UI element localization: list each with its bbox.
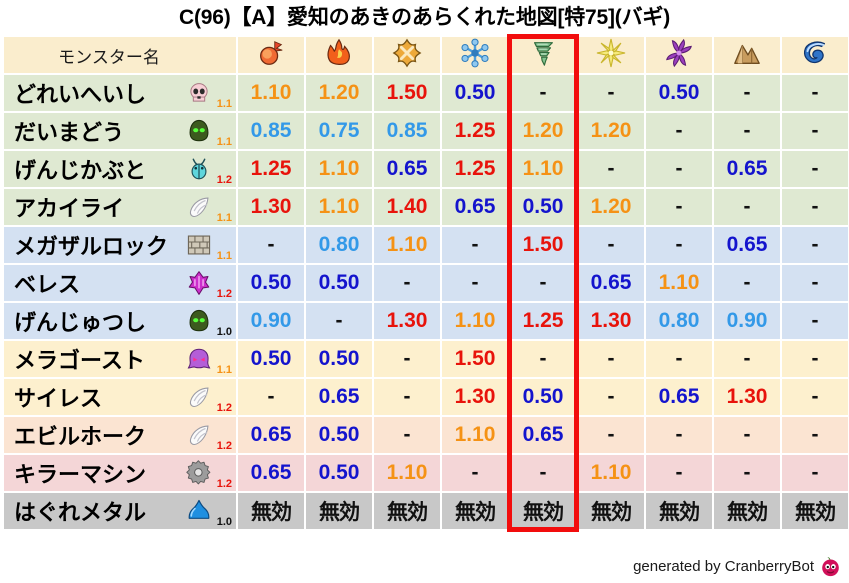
resistance-value: 無効 — [455, 501, 495, 524]
resistance-value: 0.50 — [319, 423, 360, 446]
resistance-value-cell: - — [646, 455, 712, 491]
resistance-value: - — [540, 461, 547, 484]
table-row: どれいへいし1.11.101.201.500.50--0.50-- — [4, 75, 848, 111]
resistance-value: - — [404, 385, 411, 408]
monster-name-cell[interactable]: メガザルロック1.1 — [4, 227, 236, 263]
resistance-value-cell: 1.50 — [374, 75, 440, 111]
resistance-value: - — [744, 347, 751, 370]
resistance-value-cell: - — [782, 189, 848, 225]
table-row: サイレス1.2-0.65-1.300.50-0.651.30- — [4, 379, 848, 415]
resistance-value-cell: - — [782, 227, 848, 263]
white-wing-icon — [186, 422, 212, 448]
resistance-value: 0.50 — [659, 81, 700, 104]
resistance-value-cell: 0.85 — [374, 113, 440, 149]
resistance-value: - — [812, 157, 819, 180]
table-row: だいまどう1.10.850.750.851.251.201.20--- — [4, 113, 848, 149]
resistance-value: 0.50 — [523, 195, 564, 218]
resistance-value-cell: - — [782, 417, 848, 453]
table-row: アカイライ1.11.301.101.400.650.501.20--- — [4, 189, 848, 225]
resistance-value-cell: 0.65 — [510, 417, 576, 453]
monster-version-label: 1.2 — [217, 441, 232, 452]
monster-name-cell[interactable]: ベレス1.2 — [4, 265, 236, 301]
resistance-value-cell: - — [578, 151, 644, 187]
resistance-value-cell: 無効 — [238, 493, 304, 529]
element-column-header-light-star[interactable] — [578, 37, 644, 73]
monster-version-label: 1.1 — [217, 365, 232, 376]
resistance-value-cell: 1.25 — [442, 151, 508, 187]
resistance-value: 0.50 — [319, 347, 360, 370]
monster-name-cell[interactable]: はぐれメタル1.0 — [4, 493, 236, 529]
resistance-value-cell: 1.30 — [442, 379, 508, 415]
resistance-value-cell: 1.20 — [578, 113, 644, 149]
monster-version-label: 1.2 — [217, 403, 232, 414]
resistance-value: 無効 — [251, 501, 291, 524]
resistance-value-cell: - — [782, 113, 848, 149]
resistance-value: - — [812, 309, 819, 332]
resistance-value: 1.10 — [387, 233, 428, 256]
resistance-value: 無効 — [387, 501, 427, 524]
resistance-value-cell: 1.40 — [374, 189, 440, 225]
gear-icon — [186, 460, 212, 486]
monster-name-cell[interactable]: メラゴースト1.1 — [4, 341, 236, 377]
resistance-value-cell: - — [578, 417, 644, 453]
resistance-value-cell: - — [578, 341, 644, 377]
resistance-value-cell: 0.65 — [238, 455, 304, 491]
resistance-value-cell: 1.30 — [238, 189, 304, 225]
resistance-value: - — [608, 233, 615, 256]
resistance-value: 1.25 — [455, 119, 496, 142]
resistance-value: - — [812, 233, 819, 256]
resistance-value: - — [812, 81, 819, 104]
resistance-value-cell: 0.65 — [442, 189, 508, 225]
resistance-value-cell: 0.65 — [306, 379, 372, 415]
table-row: げんじかぶと1.21.251.100.651.251.10--0.65- — [4, 151, 848, 187]
resistance-value: 1.10 — [319, 157, 360, 180]
resistance-value-cell: - — [714, 113, 780, 149]
monster-name-label: げんじゅつし — [14, 305, 146, 337]
resistance-value-cell: 1.10 — [442, 303, 508, 339]
monster-name-label: キラーマシン — [14, 457, 146, 489]
resistance-value-cell: 1.10 — [646, 265, 712, 301]
monster-name-label: メラゴースト — [14, 343, 145, 375]
resistance-value-cell: - — [510, 75, 576, 111]
element-column-header-tornado[interactable] — [510, 37, 576, 73]
resistance-value: 0.80 — [659, 309, 700, 332]
resistance-value: 無効 — [727, 501, 767, 524]
resistance-value: 0.50 — [319, 461, 360, 484]
resistance-value: - — [812, 347, 819, 370]
resistance-value-cell: 0.50 — [442, 75, 508, 111]
resistance-value-cell: - — [442, 265, 508, 301]
resistance-value: 無効 — [591, 501, 631, 524]
resistance-value-cell: 0.50 — [646, 75, 712, 111]
resistance-value: 1.30 — [387, 309, 428, 332]
resistance-value-cell: 1.10 — [374, 455, 440, 491]
resistance-value-cell: 0.90 — [714, 303, 780, 339]
resistance-value: 0.65 — [455, 195, 496, 218]
resistance-value-cell: 0.80 — [306, 227, 372, 263]
resistance-value: 無効 — [319, 501, 359, 524]
resistance-value: 1.30 — [591, 309, 632, 332]
resistance-value: 0.85 — [387, 119, 428, 142]
resistance-value: - — [676, 119, 683, 142]
fireball-icon — [256, 38, 286, 68]
resistance-value: - — [744, 119, 751, 142]
resistance-value-cell: 0.50 — [238, 341, 304, 377]
resistance-value: - — [812, 461, 819, 484]
element-column-header-explosion[interactable] — [374, 37, 440, 73]
resistance-value-cell: - — [782, 341, 848, 377]
resistance-value-cell: - — [714, 455, 780, 491]
tornado-icon — [528, 38, 558, 68]
resistance-value-cell: - — [782, 455, 848, 491]
resistance-value-cell: - — [578, 227, 644, 263]
resistance-value: - — [676, 157, 683, 180]
monster-name-label: げんじかぶと — [14, 153, 146, 185]
resistance-value: 1.25 — [455, 157, 496, 180]
explosion-icon — [392, 38, 422, 68]
resistance-value: 0.65 — [727, 157, 768, 180]
resistance-value-cell: - — [782, 265, 848, 301]
resistance-value-cell: - — [714, 189, 780, 225]
table-row: ベレス1.20.500.50---0.651.10-- — [4, 265, 848, 301]
resistance-value: 1.30 — [727, 385, 768, 408]
resistance-value: 0.50 — [523, 385, 564, 408]
resistance-value: - — [744, 195, 751, 218]
monster-name-cell[interactable]: げんじかぶと1.2 — [4, 151, 236, 187]
resistance-value: 0.65 — [251, 423, 292, 446]
snowflake-icon — [460, 38, 490, 68]
purple-ghost-icon — [186, 346, 212, 372]
resistance-value: 0.90 — [727, 309, 768, 332]
resistance-value-cell: - — [374, 379, 440, 415]
resistance-value-cell: - — [646, 113, 712, 149]
monster-name-label: サイレス — [14, 381, 102, 413]
table-row: げんじゅつし1.00.90-1.301.101.251.300.800.90- — [4, 303, 848, 339]
resistance-value: 1.10 — [251, 81, 292, 104]
resistance-value: 1.20 — [591, 119, 632, 142]
resistance-value: 0.65 — [727, 233, 768, 256]
resistance-value: 1.50 — [455, 347, 496, 370]
monster-name-cell[interactable]: げんじゅつし1.0 — [4, 303, 236, 339]
resistance-value-cell: 1.50 — [510, 227, 576, 263]
monster-name-label: だいまどう — [14, 115, 124, 147]
resistance-value-cell: - — [646, 189, 712, 225]
resistance-value: 0.75 — [319, 119, 360, 142]
resistance-value-cell: 0.50 — [306, 455, 372, 491]
resistance-value-cell: 無効 — [374, 493, 440, 529]
resistance-value: 1.50 — [523, 233, 564, 256]
resistance-value: - — [540, 271, 547, 294]
resistance-value-cell: - — [374, 417, 440, 453]
resistance-value-cell: 0.90 — [238, 303, 304, 339]
resistance-value: 1.10 — [455, 423, 496, 446]
resistance-value: - — [608, 81, 615, 104]
resistance-value-cell: 1.10 — [442, 417, 508, 453]
blue-slime-icon — [186, 498, 212, 524]
resistance-value: - — [812, 385, 819, 408]
element-column-header-flame[interactable] — [306, 37, 372, 73]
wave-icon — [800, 38, 830, 68]
resistance-value-cell: 1.10 — [578, 455, 644, 491]
element-column-header-mountain[interactable] — [714, 37, 780, 73]
resistance-value-cell: 0.65 — [578, 265, 644, 301]
resistance-value: 0.65 — [591, 271, 632, 294]
monster-name-label: エビルホーク — [14, 419, 146, 451]
resistance-value-cell: - — [782, 151, 848, 187]
resistance-value-cell: 1.10 — [238, 75, 304, 111]
resistance-value: 1.10 — [591, 461, 632, 484]
monster-version-label: 1.2 — [217, 289, 232, 300]
resistance-value: - — [676, 195, 683, 218]
monster-name-label: ベレス — [14, 267, 80, 299]
resistance-value: 0.50 — [319, 271, 360, 294]
resistance-value-cell: 0.65 — [374, 151, 440, 187]
resistance-value: 0.65 — [319, 385, 360, 408]
resistance-value: 1.10 — [387, 461, 428, 484]
resistance-value: - — [744, 271, 751, 294]
purple-crest-icon — [186, 270, 212, 296]
resistance-value-cell: 0.50 — [510, 379, 576, 415]
skull-icon — [186, 80, 212, 106]
resistance-value: 無効 — [659, 501, 699, 524]
resistance-value-cell: 無効 — [306, 493, 372, 529]
resistance-value-cell: - — [578, 379, 644, 415]
resistance-value-cell: - — [646, 341, 712, 377]
table-header-row: モンスター名 — [4, 37, 848, 73]
table-row: はぐれメタル1.0無効無効無効無効無効無効無効無効無効 — [4, 493, 848, 529]
monster-name-cell[interactable]: どれいへいし1.1 — [4, 75, 236, 111]
resistance-value: 無効 — [795, 501, 835, 524]
resistance-value: 1.40 — [387, 195, 428, 218]
monster-name-cell[interactable]: だいまどう1.1 — [4, 113, 236, 149]
resistance-value: 1.20 — [591, 195, 632, 218]
resistance-value: - — [812, 195, 819, 218]
resistance-value-cell: 1.30 — [374, 303, 440, 339]
resistance-value: 1.20 — [319, 81, 360, 104]
resistance-value-cell: 0.50 — [306, 417, 372, 453]
resistance-value-cell: - — [714, 265, 780, 301]
resistance-value: 1.10 — [319, 195, 360, 218]
green-mage-icon — [186, 118, 212, 144]
resistance-value: - — [336, 309, 343, 332]
resistance-value-cell: 0.50 — [306, 341, 372, 377]
resistance-value-cell: 無効 — [782, 493, 848, 529]
resistance-value: 0.65 — [387, 157, 428, 180]
resistance-value-cell: - — [782, 75, 848, 111]
monster-name-label: どれいへいし — [14, 77, 146, 109]
resistance-value: - — [676, 233, 683, 256]
resistance-value-cell: 1.50 — [442, 341, 508, 377]
resistance-value-cell: - — [374, 265, 440, 301]
table-row: キラーマシン1.20.650.501.10--1.10--- — [4, 455, 848, 491]
resistance-value-cell: 無効 — [578, 493, 644, 529]
resistance-value-cell: 1.20 — [510, 113, 576, 149]
resistance-value: 0.90 — [251, 309, 292, 332]
monster-name-header: モンスター名 — [4, 37, 236, 73]
resistance-value-cell: 1.20 — [306, 75, 372, 111]
resistance-value: - — [268, 385, 275, 408]
monster-version-label: 1.0 — [217, 327, 232, 338]
resistance-value-cell: 0.85 — [238, 113, 304, 149]
resistance-value-cell: 0.65 — [238, 417, 304, 453]
resistance-value: - — [540, 347, 547, 370]
resistance-value: - — [812, 119, 819, 142]
resistance-value: 0.85 — [251, 119, 292, 142]
monster-version-label: 1.1 — [217, 251, 232, 262]
resistance-value-cell: - — [714, 75, 780, 111]
dark-swirl-icon — [664, 38, 694, 68]
resistance-value-cell: 1.25 — [510, 303, 576, 339]
resistance-value-cell: - — [578, 75, 644, 111]
resistance-value: 1.30 — [455, 385, 496, 408]
resistance-value: 0.65 — [659, 385, 700, 408]
resistance-value-cell: - — [442, 227, 508, 263]
monster-name-label: メガザルロック — [14, 229, 168, 261]
monster-name-cell[interactable]: アカイライ1.1 — [4, 189, 236, 225]
resistance-value-cell: 1.20 — [578, 189, 644, 225]
resistance-value-cell: - — [714, 417, 780, 453]
resistance-value-cell: 1.30 — [578, 303, 644, 339]
resistance-value: 無効 — [523, 501, 563, 524]
resistance-value: - — [676, 461, 683, 484]
resistance-value-cell: 1.10 — [374, 227, 440, 263]
element-column-header-wave[interactable] — [782, 37, 848, 73]
resistance-value: - — [404, 423, 411, 446]
resistance-value-cell: - — [510, 455, 576, 491]
resistance-value-cell: 0.75 — [306, 113, 372, 149]
resistance-table: モンスター名 どれいへいし1.11.101.201.500.50--0.50--… — [2, 35, 849, 531]
resistance-value: 1.25 — [251, 157, 292, 180]
monster-version-label: 1.1 — [217, 99, 232, 110]
resistance-value: - — [472, 271, 479, 294]
cranberry-bot-face-icon — [820, 556, 841, 577]
resistance-value: 1.20 — [523, 119, 564, 142]
resistance-value-cell: 0.65 — [714, 227, 780, 263]
resistance-value: 1.30 — [251, 195, 292, 218]
resistance-value-cell: 1.30 — [714, 379, 780, 415]
resistance-value-cell: - — [306, 303, 372, 339]
resistance-value-cell: 1.10 — [306, 151, 372, 187]
light-star-icon — [596, 38, 626, 68]
resistance-value: 0.50 — [251, 271, 292, 294]
resistance-value-cell: 1.25 — [238, 151, 304, 187]
resistance-value-cell: 0.50 — [238, 265, 304, 301]
resistance-value: - — [608, 157, 615, 180]
monster-name-cell[interactable]: キラーマシン1.2 — [4, 455, 236, 491]
resistance-value: - — [540, 81, 547, 104]
green-mage-icon — [186, 308, 212, 334]
resistance-value-cell: 1.10 — [510, 151, 576, 187]
resistance-value-cell: - — [646, 227, 712, 263]
monster-version-label: 1.2 — [217, 175, 232, 186]
monster-name-label: アカイライ — [14, 191, 124, 223]
monster-version-label: 1.1 — [217, 213, 232, 224]
resistance-value: 1.10 — [659, 271, 700, 294]
beetle-icon — [186, 156, 212, 182]
resistance-value-cell: - — [238, 379, 304, 415]
resistance-value-cell: 0.50 — [510, 189, 576, 225]
page-title: C(96)【A】愛知のあきのあらくれた地図[特75](バギ) — [0, 0, 849, 35]
resistance-value-cell: - — [442, 455, 508, 491]
monster-name-cell[interactable]: サイレス1.2 — [4, 379, 236, 415]
resistance-value: - — [472, 233, 479, 256]
resistance-value: 0.50 — [455, 81, 496, 104]
mountain-icon — [732, 38, 762, 68]
brick-icon — [186, 232, 212, 258]
resistance-value: 1.50 — [387, 81, 428, 104]
resistance-value-cell: 無効 — [646, 493, 712, 529]
resistance-value: 0.50 — [251, 347, 292, 370]
resistance-value-cell: - — [374, 341, 440, 377]
white-wing-icon — [186, 194, 212, 220]
element-column-header-snowflake[interactable] — [442, 37, 508, 73]
resistance-value: - — [744, 423, 751, 446]
resistance-value: - — [812, 423, 819, 446]
footer-credit: generated by CranberryBot — [633, 556, 841, 577]
monster-version-label: 1.0 — [217, 517, 232, 528]
resistance-value-cell: 0.65 — [714, 151, 780, 187]
monster-version-label: 1.1 — [217, 137, 232, 148]
resistance-value: 0.80 — [319, 233, 360, 256]
resistance-value: 1.10 — [523, 157, 564, 180]
resistance-value-cell: - — [714, 341, 780, 377]
resistance-value-cell: - — [238, 227, 304, 263]
resistance-value-cell: - — [782, 303, 848, 339]
flame-icon — [324, 38, 354, 68]
resistance-value: - — [676, 347, 683, 370]
resistance-value: 0.65 — [251, 461, 292, 484]
monster-name-label: はぐれメタル — [14, 495, 146, 527]
resistance-value: - — [744, 81, 751, 104]
monster-version-label: 1.2 — [217, 479, 232, 490]
resistance-value: - — [744, 461, 751, 484]
resistance-value: 1.10 — [455, 309, 496, 332]
resistance-value: - — [268, 233, 275, 256]
table-row: エビルホーク1.20.650.50-1.100.65---- — [4, 417, 848, 453]
resistance-value-cell: 1.25 — [442, 113, 508, 149]
footer-label: generated by CranberryBot — [633, 558, 814, 575]
resistance-value: - — [608, 423, 615, 446]
resistance-value-cell: 1.10 — [306, 189, 372, 225]
resistance-value-cell: 0.50 — [306, 265, 372, 301]
resistance-value: - — [608, 347, 615, 370]
white-wing-icon — [186, 384, 212, 410]
resistance-value-cell: - — [510, 341, 576, 377]
resistance-value: - — [676, 423, 683, 446]
resistance-value-cell: 無効 — [714, 493, 780, 529]
table-row: メガザルロック1.1-0.801.10-1.50--0.65- — [4, 227, 848, 263]
element-column-header-fireball[interactable] — [238, 37, 304, 73]
resistance-value: 0.65 — [523, 423, 564, 446]
resistance-value: - — [404, 347, 411, 370]
resistance-value-cell: 無効 — [442, 493, 508, 529]
resistance-value-cell: 0.65 — [646, 379, 712, 415]
resistance-value-cell: 0.80 — [646, 303, 712, 339]
resistance-value: 1.25 — [523, 309, 564, 332]
monster-name-cell[interactable]: エビルホーク1.2 — [4, 417, 236, 453]
resistance-value: - — [812, 271, 819, 294]
element-column-header-dark-swirl[interactable] — [646, 37, 712, 73]
resistance-value: - — [472, 461, 479, 484]
resistance-value-cell: 無効 — [510, 493, 576, 529]
resistance-value: - — [404, 271, 411, 294]
resistance-value-cell: - — [782, 379, 848, 415]
resistance-value-cell: - — [646, 151, 712, 187]
table-row: メラゴースト1.10.500.50-1.50----- — [4, 341, 848, 377]
resistance-value-cell: - — [510, 265, 576, 301]
resistance-value: - — [608, 385, 615, 408]
